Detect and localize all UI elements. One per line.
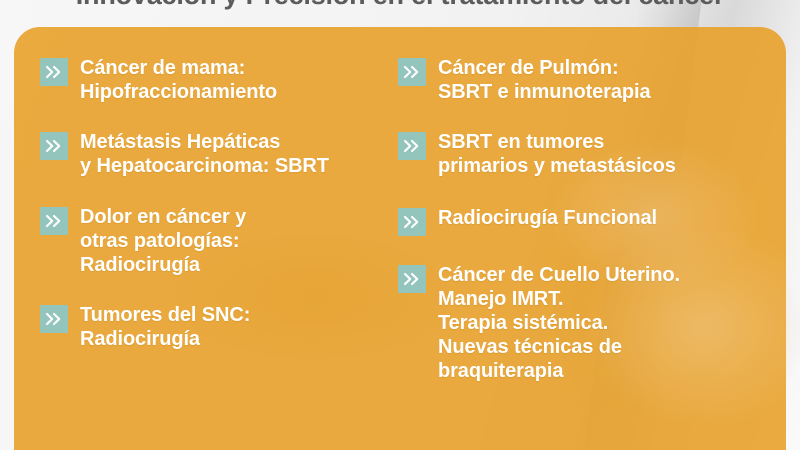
double-chevron-right-icon [40,132,68,160]
list-item[interactable]: Radiocirugía Funcional [398,206,786,236]
right-column: Cáncer de Pulmón: SBRT e inmunoterapia S… [386,27,786,450]
left-column: Cáncer de mama: Hipofraccionamiento Metá… [14,27,386,450]
list-item-label: Cáncer de Cuello Uterino. Manejo IMRT. T… [438,263,680,383]
double-chevron-right-icon [40,58,68,86]
list-item-label: Cáncer de mama: Hipofraccionamiento [80,56,277,104]
double-chevron-right-icon [398,132,426,160]
list-item-label: Radiocirugía Funcional [438,206,657,230]
list-item[interactable]: Tumores del SNC: Radiocirugía [40,303,386,351]
list-item-label: Dolor en cáncer y otras patologías: Radi… [80,205,246,277]
double-chevron-right-icon [398,265,426,293]
list-item[interactable]: Cáncer de Cuello Uterino. Manejo IMRT. T… [398,263,786,383]
list-item[interactable]: Dolor en cáncer y otras patologías: Radi… [40,205,386,277]
double-chevron-right-icon [398,58,426,86]
double-chevron-right-icon [40,305,68,333]
double-chevron-right-icon [40,207,68,235]
list-item[interactable]: Cáncer de Pulmón: SBRT e inmunoterapia [398,56,786,104]
list-item-label: Tumores del SNC: Radiocirugía [80,303,250,351]
list-item[interactable]: SBRT en tumores primarios y metastásicos [398,130,786,178]
list-item[interactable]: Cáncer de mama: Hipofraccionamiento [40,56,386,104]
double-chevron-right-icon [398,208,426,236]
list-item-label: Cáncer de Pulmón: SBRT e inmunoterapia [438,56,650,104]
topics-panel: Cáncer de mama: Hipofraccionamiento Metá… [14,27,786,450]
list-item[interactable]: Metástasis Hepáticas y Hepatocarcinoma: … [40,130,386,178]
list-item-label: SBRT en tumores primarios y metastásicos [438,130,676,178]
topics-columns: Cáncer de mama: Hipofraccionamiento Metá… [14,27,786,450]
page-title: Innovación y Precisión en el tratamiento… [0,0,800,12]
list-item-label: Metástasis Hepáticas y Hepatocarcinoma: … [80,130,329,178]
page-title-strip: Innovación y Precisión en el tratamiento… [0,0,800,18]
